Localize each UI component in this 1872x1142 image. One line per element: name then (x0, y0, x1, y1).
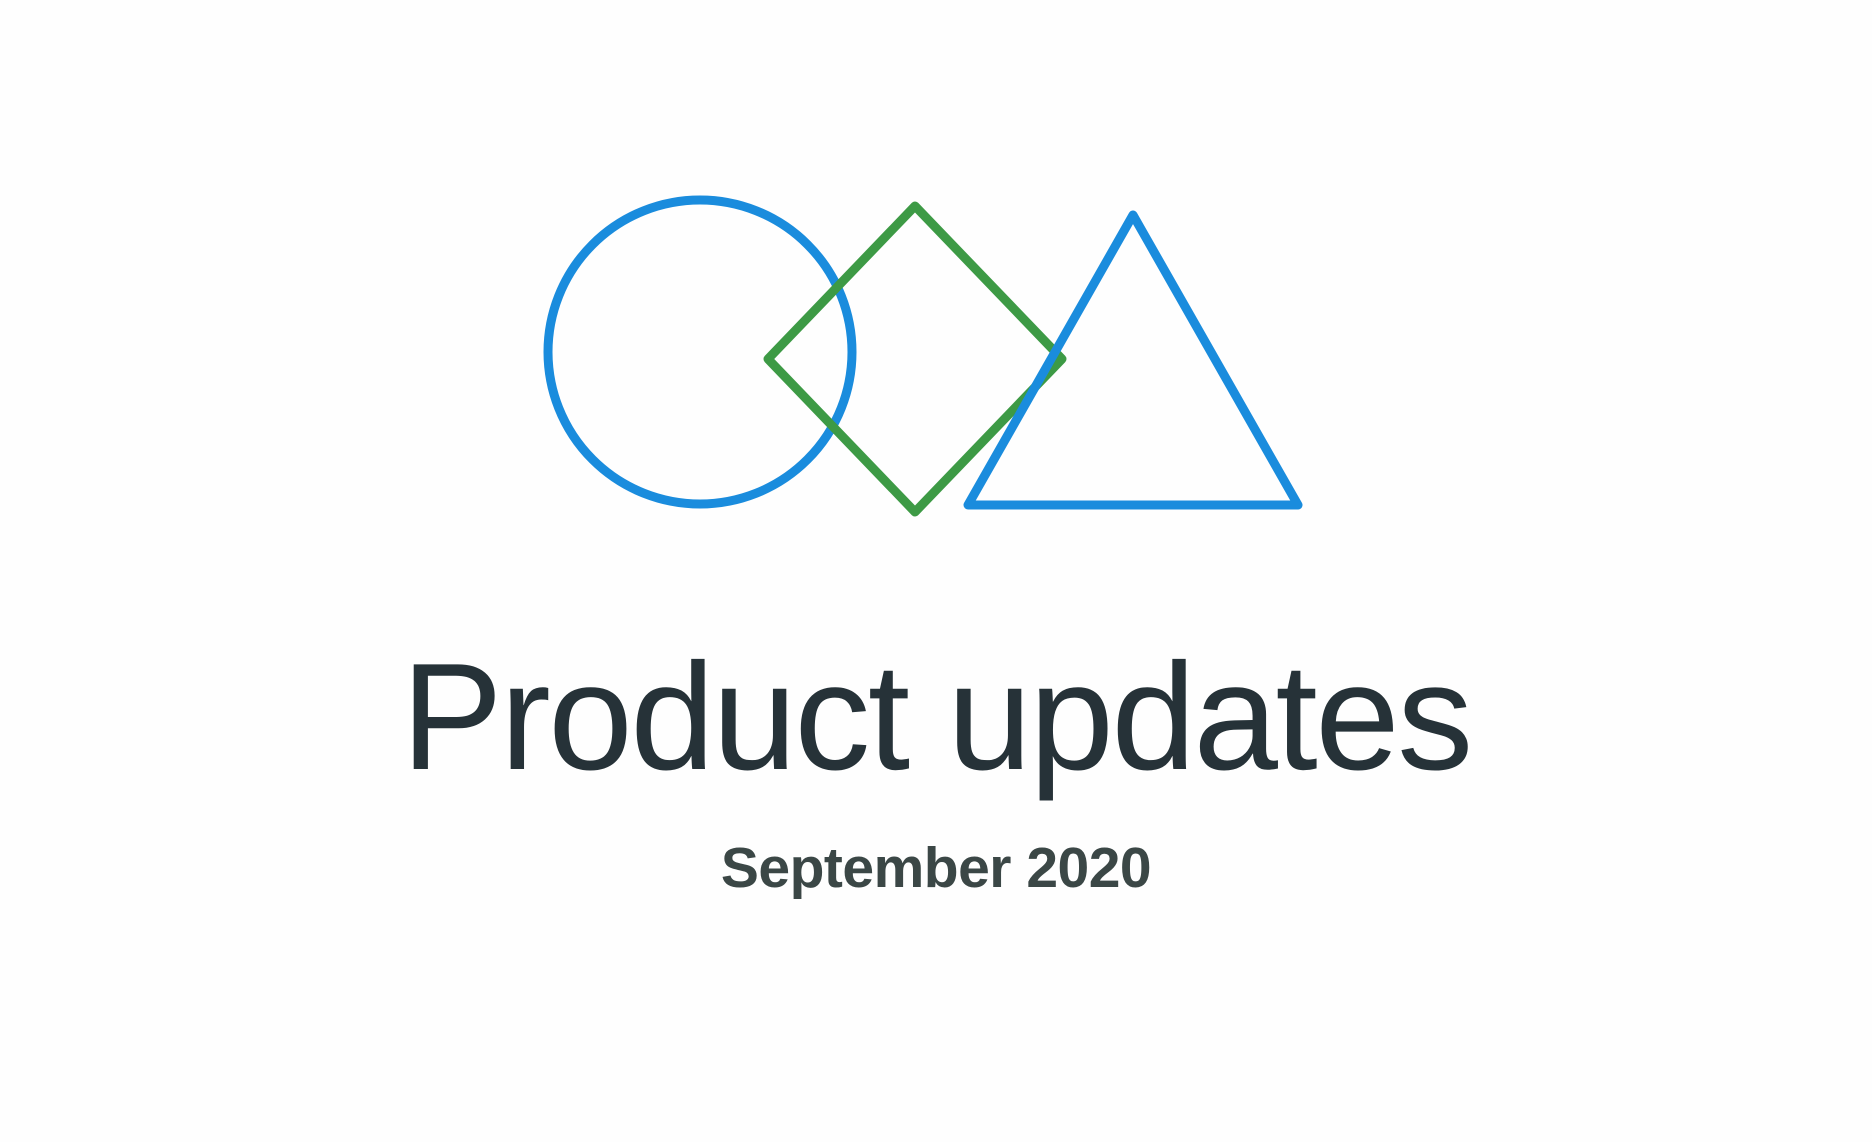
brand-logo-svg (0, 0, 1872, 600)
circle-outline-icon (548, 200, 852, 504)
diamond-outline-icon (768, 206, 1062, 512)
page-title: Product updates (0, 640, 1872, 795)
product-updates-title-slide: Product updates September 2020 (0, 0, 1872, 1142)
triangle-outline-icon (968, 215, 1298, 505)
brand-logo (0, 0, 1872, 600)
page-subtitle-date: September 2020 (0, 837, 1872, 900)
title-text-block: Product updates September 2020 (0, 640, 1872, 900)
